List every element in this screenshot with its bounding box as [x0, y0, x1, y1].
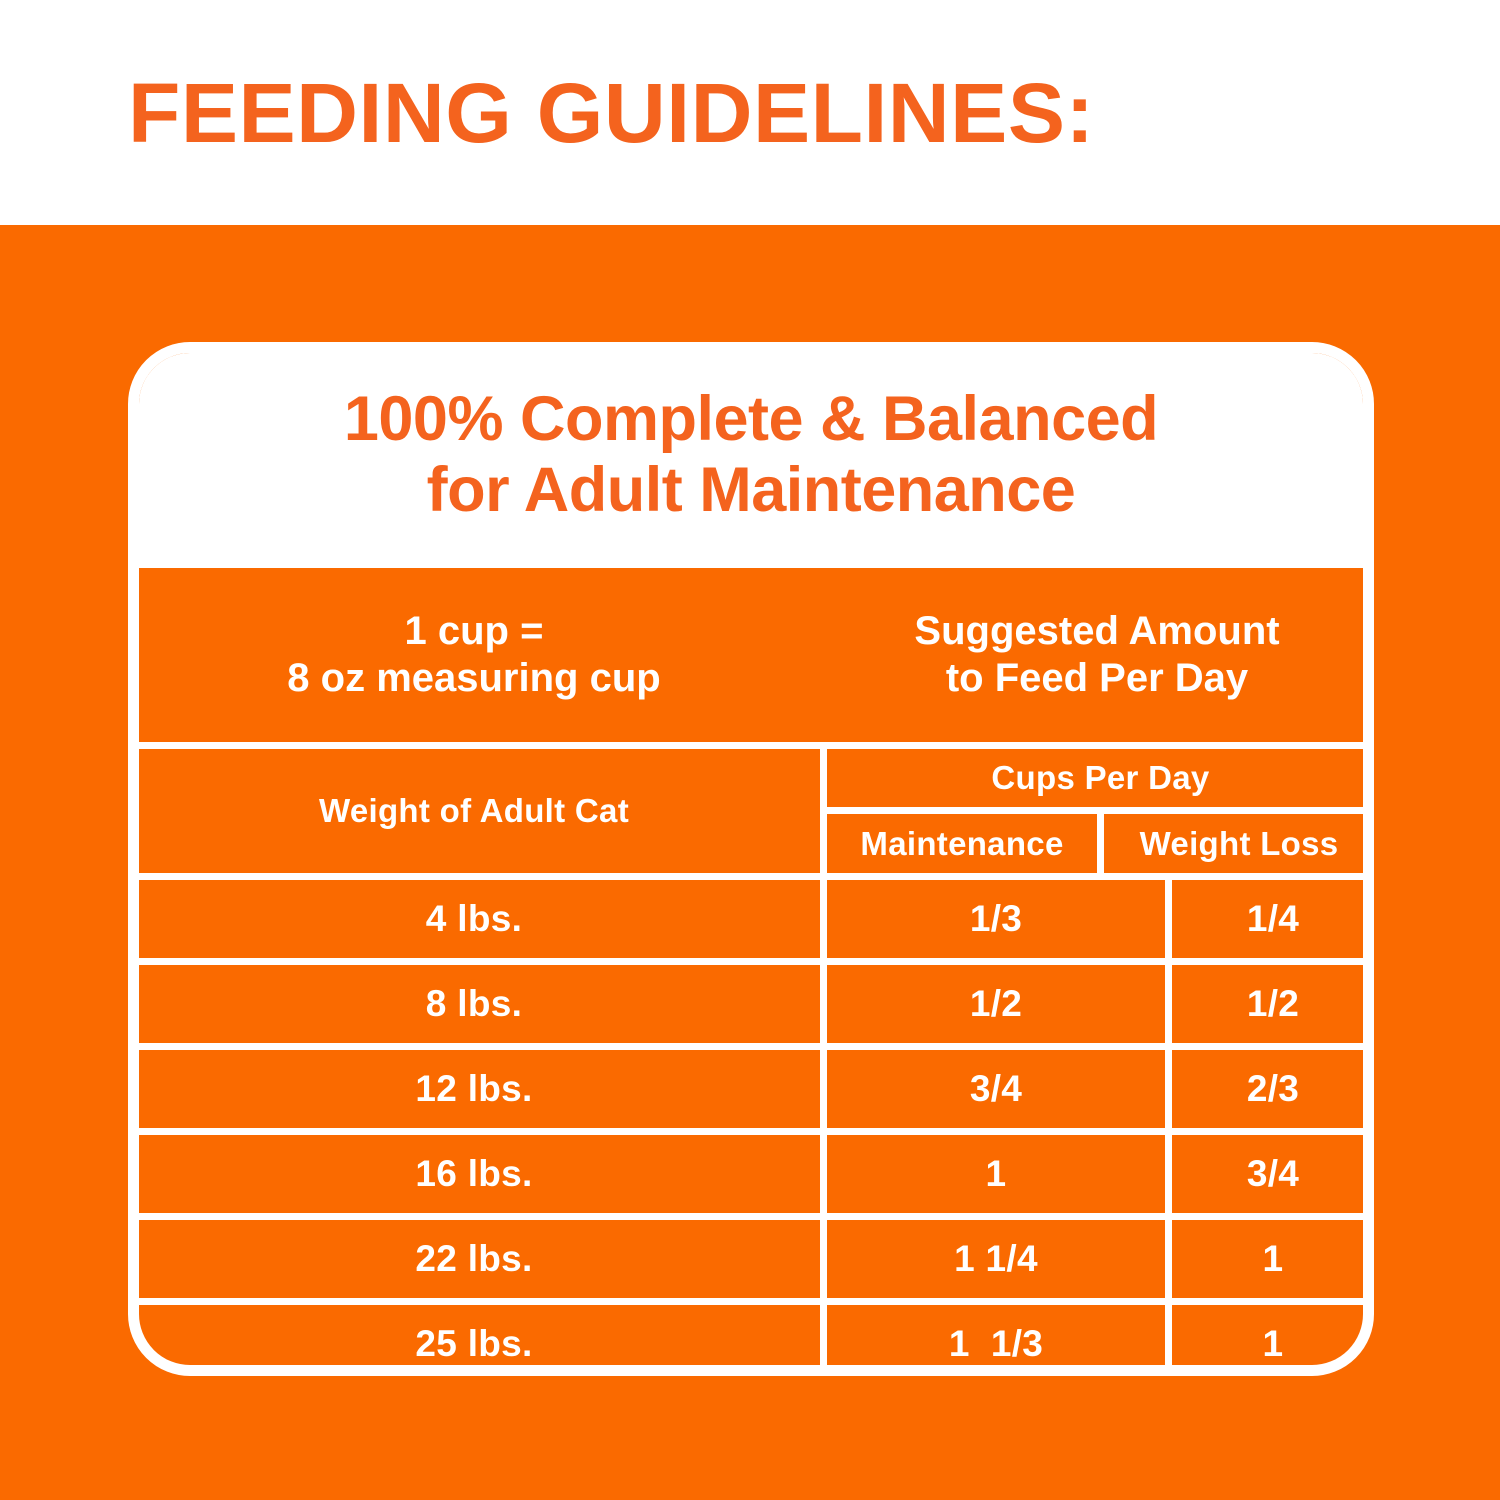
cell-weight: 16 lbs.	[128, 1135, 820, 1213]
card-heading-line-1: 100% Complete & Balanced	[344, 384, 1158, 455]
cell-maintenance: 1/2	[820, 965, 1165, 1043]
cup-definition-line-2: 8 oz measuring cup	[287, 655, 660, 702]
cell-weight: 25 lbs.	[128, 1305, 820, 1376]
cell-maintenance: 1/3	[820, 880, 1165, 958]
feeding-chart-card: 100% Complete & Balanced for Adult Maint…	[128, 342, 1374, 1376]
cell-weight-loss: 3/4	[1165, 1135, 1374, 1213]
cell-maintenance: 1 1/4	[820, 1220, 1165, 1298]
cell-weight-loss: 2/3	[1165, 1050, 1374, 1128]
table-row: 16 lbs. 1 3/4	[128, 1128, 1374, 1213]
cell-maintenance: 1	[820, 1135, 1165, 1213]
page-header-band: FEEDING GUIDELINES:	[0, 0, 1500, 225]
cell-maintenance: 3/4	[820, 1050, 1165, 1128]
table-banner-row: 1 cup = 8 oz measuring cup Suggested Amo…	[128, 568, 1374, 742]
table-row: 8 lbs. 1/2 1/2	[128, 958, 1374, 1043]
feeding-guidelines-page: FEEDING GUIDELINES: 100% Complete & Bala…	[0, 0, 1500, 1500]
table-row: 22 lbs. 1 1/4 1	[128, 1213, 1374, 1298]
cell-weight-loss: 1	[1165, 1220, 1374, 1298]
suggested-amount-line-2: to Feed Per Day	[946, 655, 1248, 702]
suggested-amount-line-1: Suggested Amount	[914, 608, 1279, 655]
cell-weight-loss: 1/4	[1165, 880, 1374, 958]
cell-weight-loss: 1/2	[1165, 965, 1374, 1043]
column-header-subcolumns: Maintenance Weight Loss	[827, 807, 1374, 873]
card-heading: 100% Complete & Balanced for Adult Maint…	[128, 342, 1374, 568]
cell-weight: 4 lbs.	[128, 880, 820, 958]
column-header-weight-loss: Weight Loss	[1097, 814, 1374, 873]
table-row: 25 lbs. 1 1/3 1	[128, 1298, 1374, 1376]
cup-definition-line-1: 1 cup =	[405, 608, 544, 655]
cell-weight-loss: 1	[1165, 1305, 1374, 1376]
column-header-cups-per-day: Cups Per Day	[827, 749, 1374, 807]
card-heading-line-2: for Adult Maintenance	[427, 455, 1076, 526]
cell-maintenance: 1 1/3	[820, 1305, 1165, 1376]
cell-weight: 22 lbs.	[128, 1220, 820, 1298]
cell-weight: 12 lbs.	[128, 1050, 820, 1128]
column-header-maintenance: Maintenance	[827, 814, 1097, 873]
table-row: 12 lbs. 3/4 2/3	[128, 1043, 1374, 1128]
column-header-cups-group: Cups Per Day Maintenance Weight Loss	[820, 749, 1374, 873]
page-title: FEEDING GUIDELINES:	[128, 71, 1095, 155]
feeding-table: 1 cup = 8 oz measuring cup Suggested Amo…	[128, 568, 1374, 1376]
banner-cell-suggested-amount: Suggested Amount to Feed Per Day	[820, 568, 1374, 742]
table-row: 4 lbs. 1/3 1/4	[128, 873, 1374, 958]
cell-weight: 8 lbs.	[128, 965, 820, 1043]
column-header-weight-of-adult-cat: Weight of Adult Cat	[128, 749, 820, 873]
banner-cell-cup-definition: 1 cup = 8 oz measuring cup	[128, 568, 820, 742]
table-subheader: Weight of Adult Cat Cups Per Day Mainten…	[128, 742, 1374, 873]
